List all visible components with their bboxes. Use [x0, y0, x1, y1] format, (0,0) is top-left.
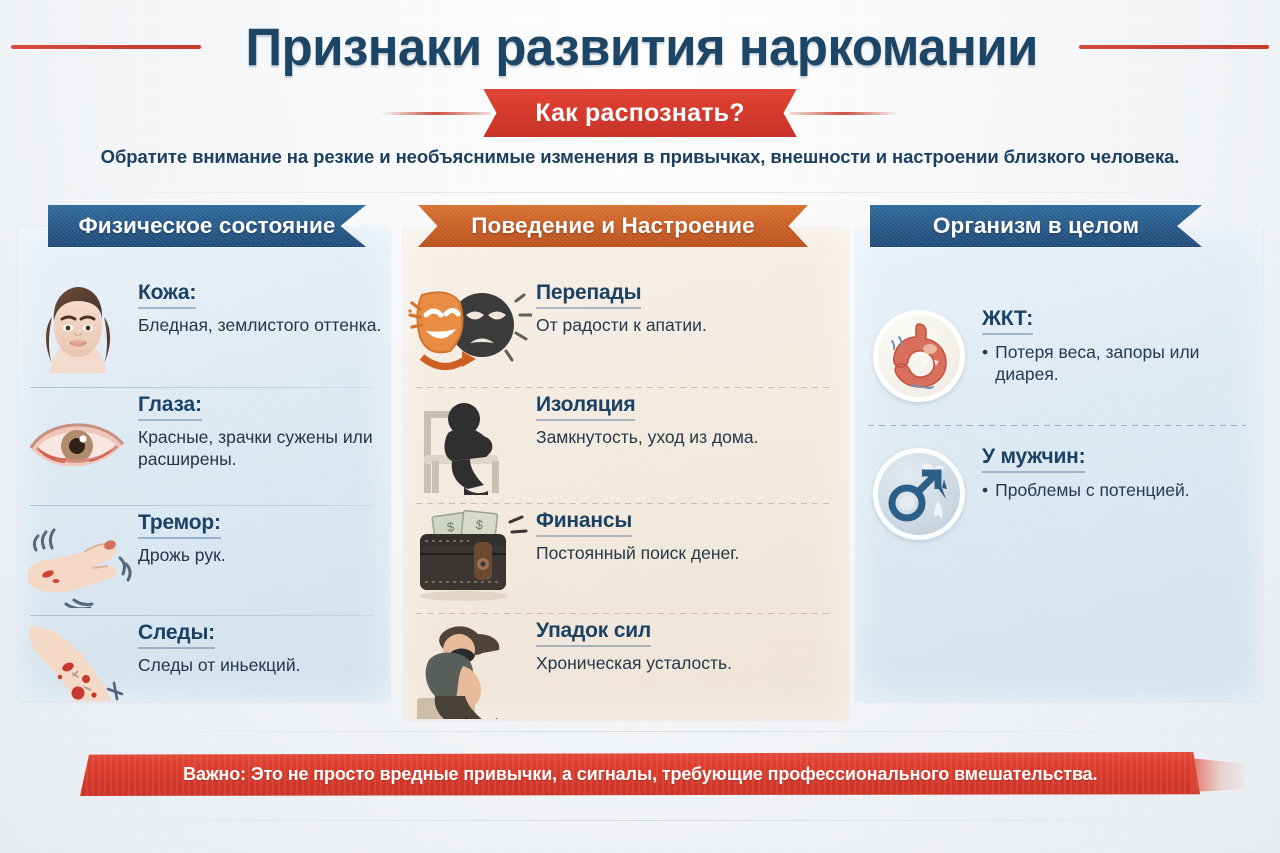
rows-body: ЖКТ: • Потеря веса, запоры или диарея.: [856, 269, 1262, 701]
list-item-desc: • Проблемы с потенцией.: [982, 479, 1262, 501]
list-item-heading: Глаза:: [138, 393, 202, 421]
sitting-person-isolation-icon: [404, 387, 536, 503]
list-item-heading: Следы:: [138, 621, 215, 649]
list-item-heading: Упадок сил: [536, 619, 651, 647]
page-title: Признаки развития наркомании: [246, 21, 1038, 74]
infographic-header: Признаки развития наркомании Как распозн…: [0, 0, 1280, 185]
male-symbol-icon-wrap: [856, 425, 982, 563]
list-item[interactable]: Перепады От радости к апатии.: [404, 275, 848, 387]
list-item-heading: Тремор:: [138, 511, 221, 539]
list-item-text: Изоляция Замкнутость, уход из дома.: [536, 387, 848, 449]
list-item[interactable]: Изоляция Замкнутость, уход из дома.: [404, 387, 848, 503]
footer-banner-label: Важно: Это не просто вредные привычки, а…: [183, 763, 1097, 785]
list-item-desc: Дрожь рук.: [138, 545, 386, 567]
list-item-text: Глаза: Красные, зрачки сужены или расшир…: [138, 387, 390, 471]
trembling-hand-icon: [18, 505, 138, 615]
list-item[interactable]: Кожа: Бледная, землистого оттенка.: [18, 275, 390, 387]
brush-tail: [1190, 758, 1248, 792]
list-item-heading: Изоляция: [536, 393, 635, 421]
section-header-behaviour: Поведение и Настроение: [418, 205, 808, 247]
list-item-text: Следы: Следы от иньекций.: [138, 615, 390, 677]
list-item-heading: ЖКТ:: [982, 307, 1033, 335]
list-item-text: Финансы Постоянный поиск денег.: [536, 503, 848, 565]
list-item-text: У мужчин: • Проблемы с потенцией.: [982, 425, 1262, 501]
footer-divider: [60, 731, 1220, 732]
list-item[interactable]: У мужчин: • Проблемы с потенцией.: [856, 425, 1262, 563]
subtitle-row: Как распознать?: [0, 85, 1280, 141]
list-item-desc-text: Проблемы с потенцией.: [995, 479, 1190, 501]
panel-physical: Кожа: Бледная, землистого оттенка.: [18, 227, 390, 701]
subtitle-ribbon: Как распознать?: [483, 89, 796, 137]
list-item-desc: Хроническая усталость.: [536, 653, 784, 675]
panel-body: ЖКТ: • Потеря веса, запоры или диарея.: [856, 227, 1262, 701]
list-item-desc: • Потеря веса, запоры или диарея.: [982, 341, 1262, 385]
list-item-desc: Постоянный поиск денег.: [536, 543, 784, 565]
exhausted-man-icon: [404, 613, 536, 719]
list-item-desc: От радости к апатии.: [536, 315, 784, 337]
list-item[interactable]: Следы: Следы от иньекций.: [18, 615, 390, 701]
list-item[interactable]: Тремор: Дрожь рук.: [18, 505, 390, 615]
red-eye-icon: [18, 387, 138, 505]
footer-banner-area: Важно: Это не просто вредные привычки, а…: [0, 742, 1280, 802]
subtitle-rule-left: [381, 112, 491, 115]
bullet-dot: •: [982, 341, 988, 385]
section-header-label: Поведение и Настроение: [471, 213, 754, 239]
theatre-masks-icon: [404, 275, 536, 387]
section-header-label: Физическое состояние: [78, 213, 335, 239]
list-item-text: Кожа: Бледная, землистого оттенка.: [138, 275, 390, 337]
injection-marks-arm-icon: [18, 615, 138, 701]
subtitle-ribbon-label: Как распознать?: [535, 99, 744, 128]
male-symbol-icon: [873, 448, 965, 540]
stomach-icon: [873, 310, 965, 402]
title-row: Признаки развития наркомании: [0, 14, 1280, 80]
list-item-desc: Бледная, землистого оттенка.: [138, 315, 386, 337]
bullet-dot: •: [982, 479, 988, 501]
section-header-label: Организм в целом: [933, 213, 1139, 239]
list-item-text: Тремор: Дрожь рук.: [138, 505, 390, 567]
list-item[interactable]: $ $: [404, 503, 848, 613]
list-item-desc: Замкнутость, уход из дома.: [536, 427, 784, 449]
title-rule-right: [1079, 45, 1269, 49]
panel-behaviour: Перепады От радости к апатии.: [404, 227, 848, 719]
footer-banner: Важно: Это не просто вредные привычки, а…: [80, 752, 1200, 796]
woman-pale-face-icon: [18, 275, 138, 387]
lede-text: Обратите внимание на резкие и необъясним…: [0, 146, 1280, 168]
list-item-heading: У мужчин:: [982, 445, 1085, 473]
section-header-body: Организм в целом: [870, 205, 1202, 247]
list-item-text: ЖКТ: • Потеря веса, запоры или диарея.: [982, 287, 1262, 385]
section-header-physical: Физическое состояние: [48, 205, 366, 247]
list-item-heading: Кожа:: [138, 281, 196, 309]
bottom-hairline: [60, 820, 1220, 821]
list-item-desc: Красные, зрачки сужены или расширены.: [138, 427, 386, 471]
stomach-icon-wrap: [856, 287, 982, 425]
columns-area: Кожа: Бледная, землистого оттенка.: [0, 205, 1280, 725]
list-item-text: Перепады От радости к апатии.: [536, 275, 848, 337]
subtitle-rule-right: [789, 112, 899, 115]
rows-physical: Кожа: Бледная, землистого оттенка.: [18, 269, 390, 701]
list-item-desc-text: Потеря веса, запоры или диарея.: [995, 341, 1262, 385]
list-item[interactable]: Глаза: Красные, зрачки сужены или расшир…: [18, 387, 390, 505]
title-rule-left: [11, 45, 201, 49]
wallet-money-icon: $ $: [404, 503, 536, 613]
rows-behaviour: Перепады От радости к апатии.: [404, 269, 848, 719]
header-divider: [60, 192, 1220, 193]
list-item[interactable]: ЖКТ: • Потеря веса, запоры или диарея.: [856, 287, 1262, 425]
list-item-heading: Перепады: [536, 281, 641, 309]
list-item[interactable]: Упадок сил Хроническая усталость.: [404, 613, 848, 719]
list-item-text: Упадок сил Хроническая усталость.: [536, 613, 848, 675]
list-item-heading: Финансы: [536, 509, 632, 537]
list-item-desc: Следы от иньекций.: [138, 655, 386, 677]
